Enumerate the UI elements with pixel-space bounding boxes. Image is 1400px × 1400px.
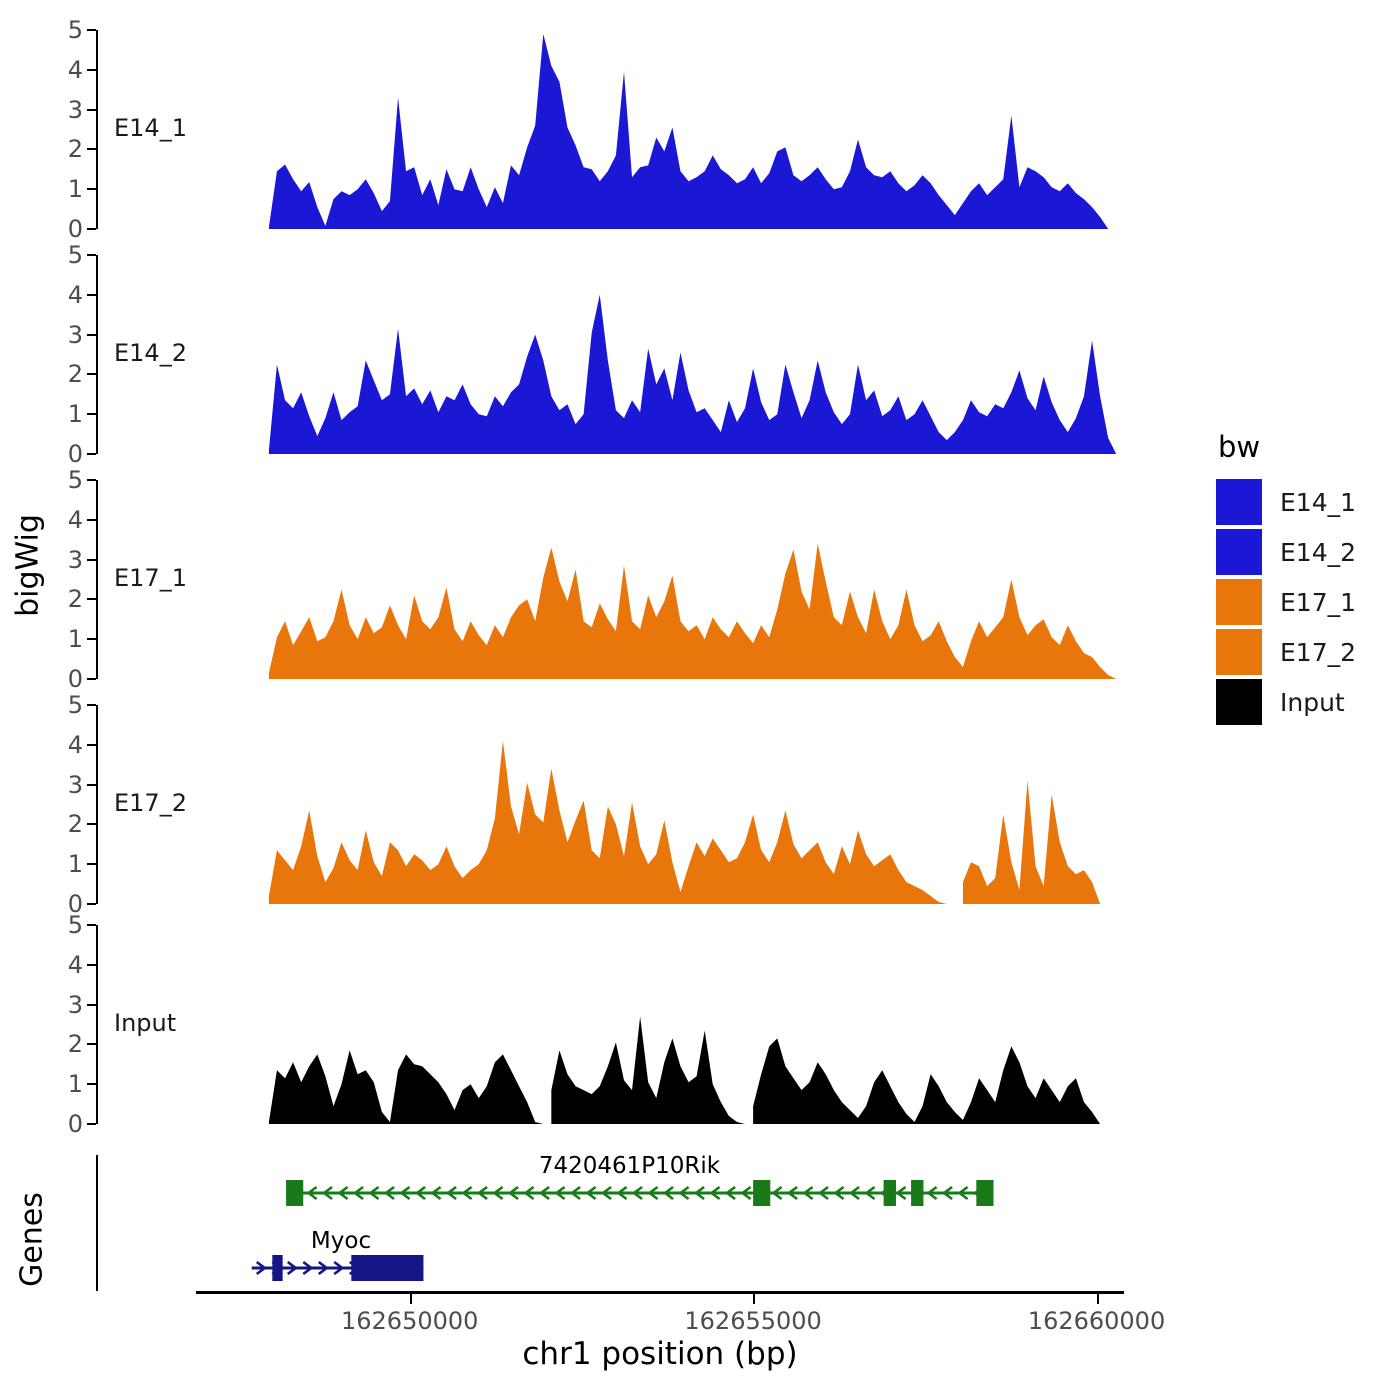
y-tick-label: 4: [68, 58, 83, 82]
y-tick: [87, 29, 96, 31]
y-tick-label: 0: [68, 667, 83, 691]
gene-exon: [884, 1180, 896, 1206]
y-tick: [87, 109, 96, 111]
y-tick-label: 1: [68, 402, 83, 426]
figure-root: bigWig Genes 012345E14_1012345E14_201234…: [0, 0, 1400, 1400]
y-tick-label: 3: [68, 98, 83, 122]
y-tick: [87, 784, 96, 786]
legend-title: bw: [1218, 430, 1356, 464]
y-tick: [87, 228, 96, 230]
x-tick: [1097, 1294, 1099, 1304]
y-tick: [87, 334, 96, 336]
legend: bw E14_1E14_2E17_1E17_2Input: [1216, 430, 1356, 728]
legend-label: E14_2: [1280, 538, 1356, 567]
y-tick-label: 0: [68, 217, 83, 241]
y-tick-label: 2: [68, 362, 83, 386]
gene-model-7420461p10rik: 7420461P10Rik: [286, 1155, 993, 1206]
y-tick-label: 4: [68, 508, 83, 532]
y-tick: [87, 69, 96, 71]
track-panel-input: 012345Input: [96, 925, 1124, 1124]
legend-swatch: [1216, 529, 1262, 575]
legend-swatch: [1216, 629, 1262, 675]
y-tick: [87, 254, 96, 256]
legend-label: Input: [1280, 688, 1345, 717]
wiggle-area-e14_2: [96, 255, 1124, 454]
y-tick: [87, 598, 96, 600]
y-tick: [87, 1083, 96, 1085]
y-tick-label: 5: [68, 243, 83, 267]
wiggle-area-e17_1: [96, 480, 1124, 679]
legend-label: E17_1: [1280, 588, 1356, 617]
gene-exon: [976, 1180, 993, 1206]
gene-exon: [911, 1180, 923, 1206]
y-tick: [87, 678, 96, 680]
y-tick-label: 3: [68, 323, 83, 347]
track-panel-e14_1: 012345E14_1: [96, 30, 1124, 229]
wiggle-area-e14_1: [96, 30, 1124, 229]
y-tick-label: 4: [68, 953, 83, 977]
gene-label: Myoc: [311, 1228, 371, 1254]
y-tick-label: 2: [68, 587, 83, 611]
y-tick-label: 5: [68, 913, 83, 937]
x-tick-label: 162650000: [341, 1307, 478, 1335]
y-tick-label: 0: [68, 442, 83, 466]
y-axis-title-genes: Genes: [15, 1180, 50, 1300]
legend-item-e14_1[interactable]: E14_1: [1216, 478, 1356, 526]
y-tick: [87, 924, 96, 926]
y-tick: [87, 964, 96, 966]
y-tick-label: 3: [68, 993, 83, 1017]
genes-panel: 7420461P10RikMyoc: [96, 1155, 1124, 1291]
wiggle-path: [269, 1017, 1100, 1124]
y-tick: [87, 823, 96, 825]
y-tick-label: 1: [68, 852, 83, 876]
y-tick: [87, 373, 96, 375]
wiggle-path: [269, 741, 1100, 904]
y-axis-title-bigwig: bigWig: [11, 486, 46, 646]
gene-exon: [272, 1255, 282, 1281]
y-tick: [87, 704, 96, 706]
y-tick-label: 4: [68, 283, 83, 307]
y-tick: [87, 1004, 96, 1006]
y-tick-label: 1: [68, 177, 83, 201]
wiggle-path: [269, 34, 1108, 229]
y-tick-label: 3: [68, 548, 83, 572]
x-tick: [753, 1294, 755, 1304]
wiggle-path: [269, 544, 1116, 679]
y-tick-label: 2: [68, 1032, 83, 1056]
x-tick-label: 162655000: [684, 1307, 821, 1335]
gene-exon: [753, 1180, 770, 1206]
wiggle-area-input: [96, 925, 1124, 1124]
y-tick-label: 5: [68, 693, 83, 717]
y-tick: [87, 903, 96, 905]
gene-exon: [351, 1255, 423, 1281]
y-tick: [87, 744, 96, 746]
legend-label: E17_2: [1280, 638, 1356, 667]
x-tick: [410, 1294, 412, 1304]
y-tick: [87, 148, 96, 150]
y-tick-label: 0: [68, 1112, 83, 1136]
legend-swatch: [1216, 679, 1262, 725]
y-tick-label: 1: [68, 627, 83, 651]
track-panel-e17_1: 012345E17_1: [96, 480, 1124, 679]
y-tick: [87, 294, 96, 296]
x-axis-title: chr1 position (bp): [196, 1336, 1124, 1372]
y-tick: [87, 1043, 96, 1045]
y-tick-label: 4: [68, 733, 83, 757]
y-tick-label: 3: [68, 773, 83, 797]
x-tick-label: 162660000: [1028, 1307, 1165, 1335]
y-tick-label: 5: [68, 468, 83, 492]
wiggle-area-e17_2: [96, 705, 1124, 904]
gene-models-svg: 7420461P10RikMyoc: [96, 1155, 1124, 1291]
legend-swatch: [1216, 579, 1262, 625]
legend-swatch: [1216, 479, 1262, 525]
gene-label: 7420461P10Rik: [539, 1155, 721, 1179]
y-tick: [87, 519, 96, 521]
legend-label: E14_1: [1280, 488, 1356, 517]
legend-items: E14_1E14_2E17_1E17_2Input: [1216, 478, 1356, 726]
legend-item-e17_2[interactable]: E17_2: [1216, 628, 1356, 676]
x-axis: 162650000162655000162660000: [196, 1291, 1124, 1294]
y-tick: [87, 479, 96, 481]
y-tick: [87, 413, 96, 415]
wiggle-path: [269, 295, 1116, 454]
gene-exon: [286, 1180, 303, 1206]
gene-model-myoc: Myoc: [252, 1228, 424, 1281]
track-panel-e14_2: 012345E14_2: [96, 255, 1124, 454]
y-tick-label: 1: [68, 1072, 83, 1096]
y-tick-label: 5: [68, 18, 83, 42]
y-tick: [87, 453, 96, 455]
track-panel-e17_2: 012345E17_2: [96, 705, 1124, 904]
legend-item-input[interactable]: Input: [1216, 678, 1356, 726]
y-tick-label: 2: [68, 812, 83, 836]
y-tick: [87, 1123, 96, 1125]
y-tick: [87, 638, 96, 640]
y-tick-label: 2: [68, 137, 83, 161]
y-tick: [87, 863, 96, 865]
y-tick: [87, 188, 96, 190]
y-tick: [87, 559, 96, 561]
legend-item-e17_1[interactable]: E17_1: [1216, 578, 1356, 626]
legend-item-e14_2[interactable]: E14_2: [1216, 528, 1356, 576]
